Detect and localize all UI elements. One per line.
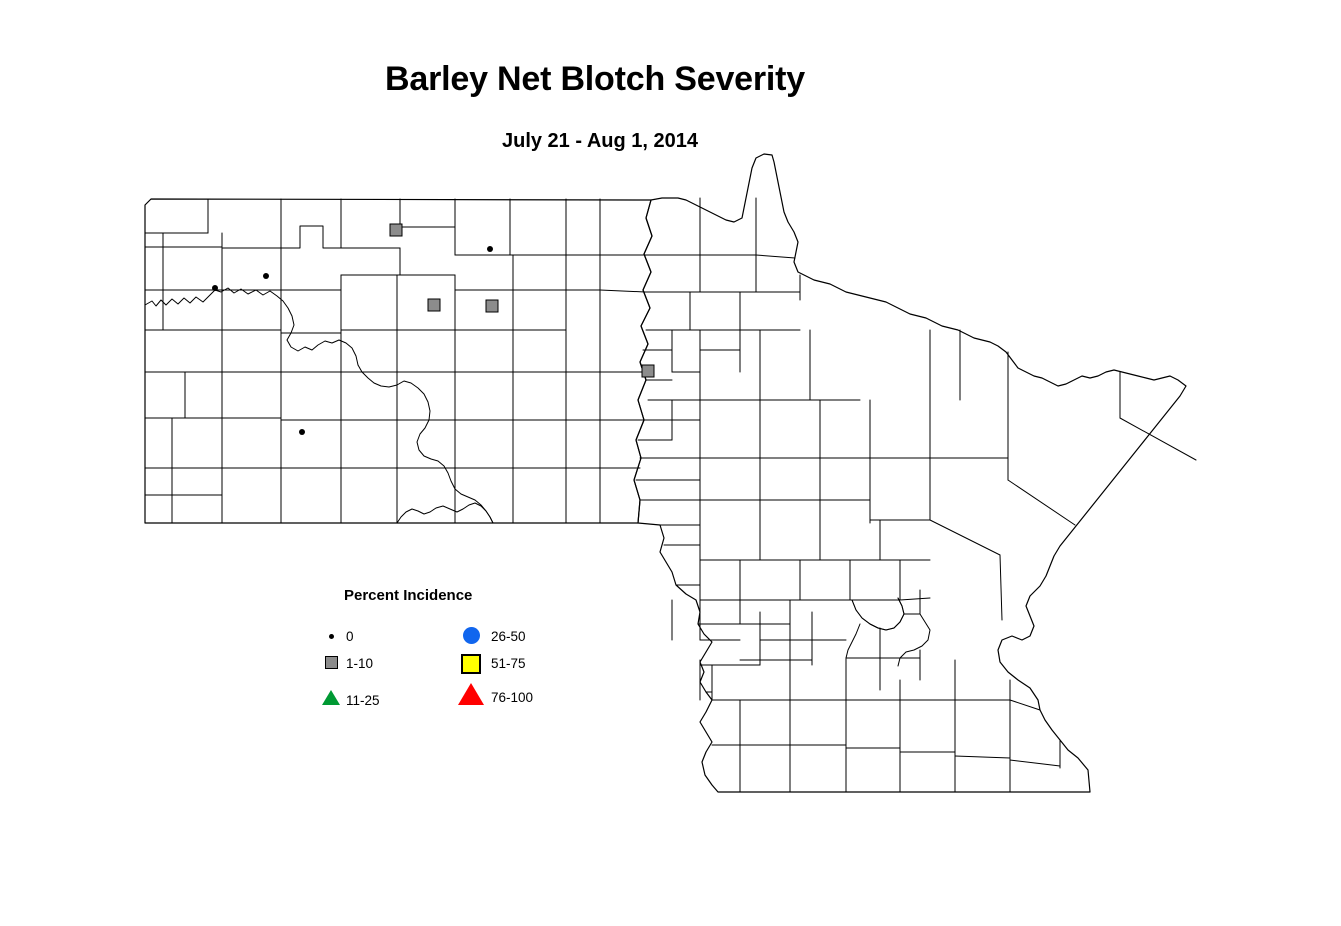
legend-symbol-1-10-icon xyxy=(325,656,338,669)
map-data-point xyxy=(299,429,305,435)
map-data-point xyxy=(390,224,403,237)
map-graphic xyxy=(0,0,1341,926)
legend-label-51-75: 51-75 xyxy=(491,656,526,671)
map-data-point xyxy=(428,299,441,312)
legend-label-26-50: 26-50 xyxy=(491,629,526,644)
legend-label-1-10: 1-10 xyxy=(346,656,373,671)
legend-label-76-100: 76-100 xyxy=(491,690,533,705)
map-data-point xyxy=(487,246,493,252)
map-data-point xyxy=(263,273,269,279)
legend-symbol-0-icon xyxy=(329,634,334,639)
legend-label-0: 0 xyxy=(346,629,354,644)
map-page: Barley Net Blotch Severity July 21 - Aug… xyxy=(0,0,1341,926)
legend-symbol-76-100-icon xyxy=(458,683,484,705)
legend-symbol-51-75-icon xyxy=(461,654,481,674)
map-data-point xyxy=(486,300,499,313)
legend-symbol-26-50-icon xyxy=(463,627,480,644)
map-data-point xyxy=(212,285,218,291)
minnesota-counties xyxy=(634,154,1196,792)
legend-title: Percent Incidence xyxy=(344,587,472,604)
north-dakota-counties xyxy=(145,199,652,523)
legend-symbol-11-25-icon xyxy=(322,690,340,705)
legend-label-11-25: 11-25 xyxy=(346,693,380,708)
map-data-point xyxy=(642,365,655,378)
